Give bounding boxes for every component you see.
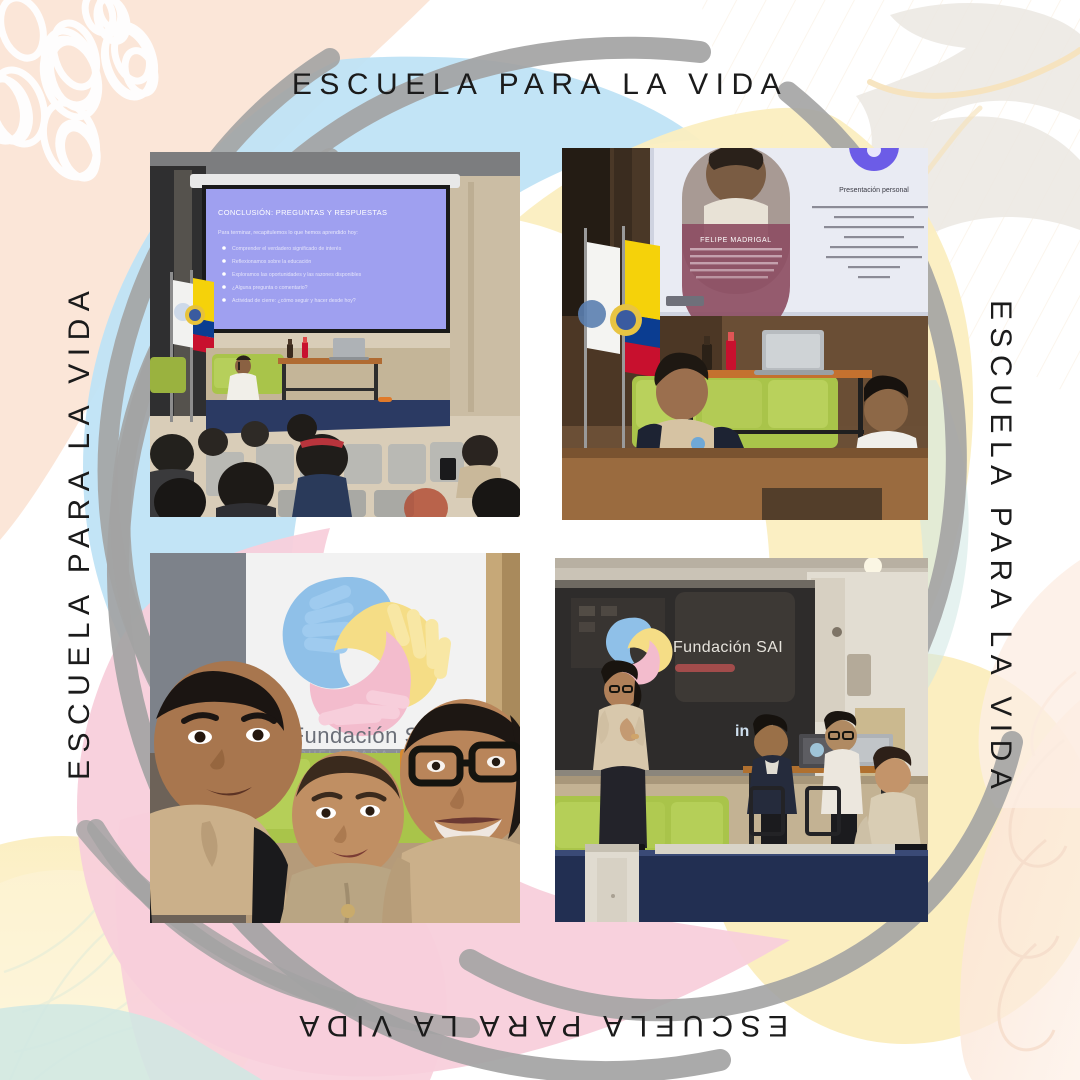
svg-text:Fundación SAI: Fundación SAI (673, 639, 783, 656)
edge-title-right: ESCUELA PARA LA VIDA (985, 300, 1015, 780)
edge-title-left: ESCUELA PARA LA VIDA (65, 300, 95, 780)
svg-text:Exploramos las oportunidades y: Exploramos las oportunidades y las razon… (232, 272, 362, 278)
edge-title-top: ESCUELA PARA LA VIDA (292, 70, 788, 100)
edge-title-bottom: ESCUELA PARA LA VIDA (292, 1010, 788, 1040)
photo-stage-panel-presentation: Fundación SAI in f (555, 558, 928, 922)
svg-text:CONCLUSIÓN: PREGUNTAS Y RESPUE: CONCLUSIÓN: PREGUNTAS Y RESPUESTAS (218, 208, 387, 217)
svg-text:in: in (735, 723, 749, 740)
svg-text:Actividad de cierre: ¿cómo seg: Actividad de cierre: ¿cómo seguir y hace… (232, 298, 356, 304)
svg-text:¿Alguna pregunta o comentario?: ¿Alguna pregunta o comentario? (232, 285, 308, 291)
svg-text:Comprender el verdadero signif: Comprender el verdadero significado de i… (232, 246, 342, 252)
social-post-canvas: ESCUELA PARA LA VIDA ESCUELA PARA LA VID… (0, 0, 1080, 1080)
svg-text:Presentación personal: Presentación personal (839, 187, 909, 194)
photo-speaker-at-laptop-table: FELIPE MADRIGAL Presentación personal (562, 148, 928, 520)
svg-text:FELIPE MADRIGAL: FELIPE MADRIGAL (700, 237, 772, 244)
photo-team-selfie-with-logo: Fundación SAI ESCUELA PARA LA VIDA (150, 553, 520, 923)
svg-text:Reflexionamos sobre la educaci: Reflexionamos sobre la educación (232, 259, 311, 265)
svg-text:Para terminar, recapitulemos l: Para terminar, recapitulemos lo que hemo… (218, 230, 358, 236)
photo-auditorium-presentation-wide: CONCLUSIÓN: PREGUNTAS Y RESPUESTAS Para … (150, 152, 520, 517)
